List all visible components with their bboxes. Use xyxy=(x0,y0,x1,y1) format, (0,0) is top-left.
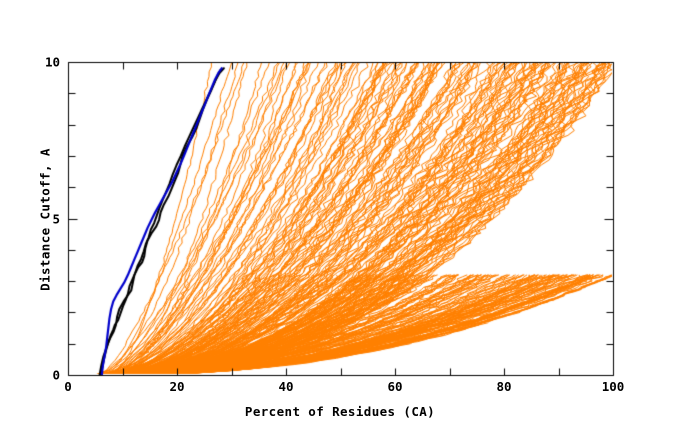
x-tick-label-20: 20 xyxy=(169,379,184,394)
x-axis-label: Percent of Residues (CA) xyxy=(0,404,680,419)
x-tick-label-80: 80 xyxy=(496,379,511,394)
x-tick-label-100: 100 xyxy=(602,379,625,394)
y-tick-label-5: 5 xyxy=(30,211,60,226)
x-tick-label-0: 0 xyxy=(64,379,72,394)
x-tick-label-60: 60 xyxy=(387,379,402,394)
plot-root: T0996-D6 Distance Cutoff, A Percent of R… xyxy=(0,0,680,440)
gdt-plot-canvas xyxy=(0,0,680,440)
x-tick-label-40: 40 xyxy=(278,379,293,394)
y-tick-label-0: 0 xyxy=(30,368,60,383)
y-tick-label-10: 10 xyxy=(30,55,60,70)
